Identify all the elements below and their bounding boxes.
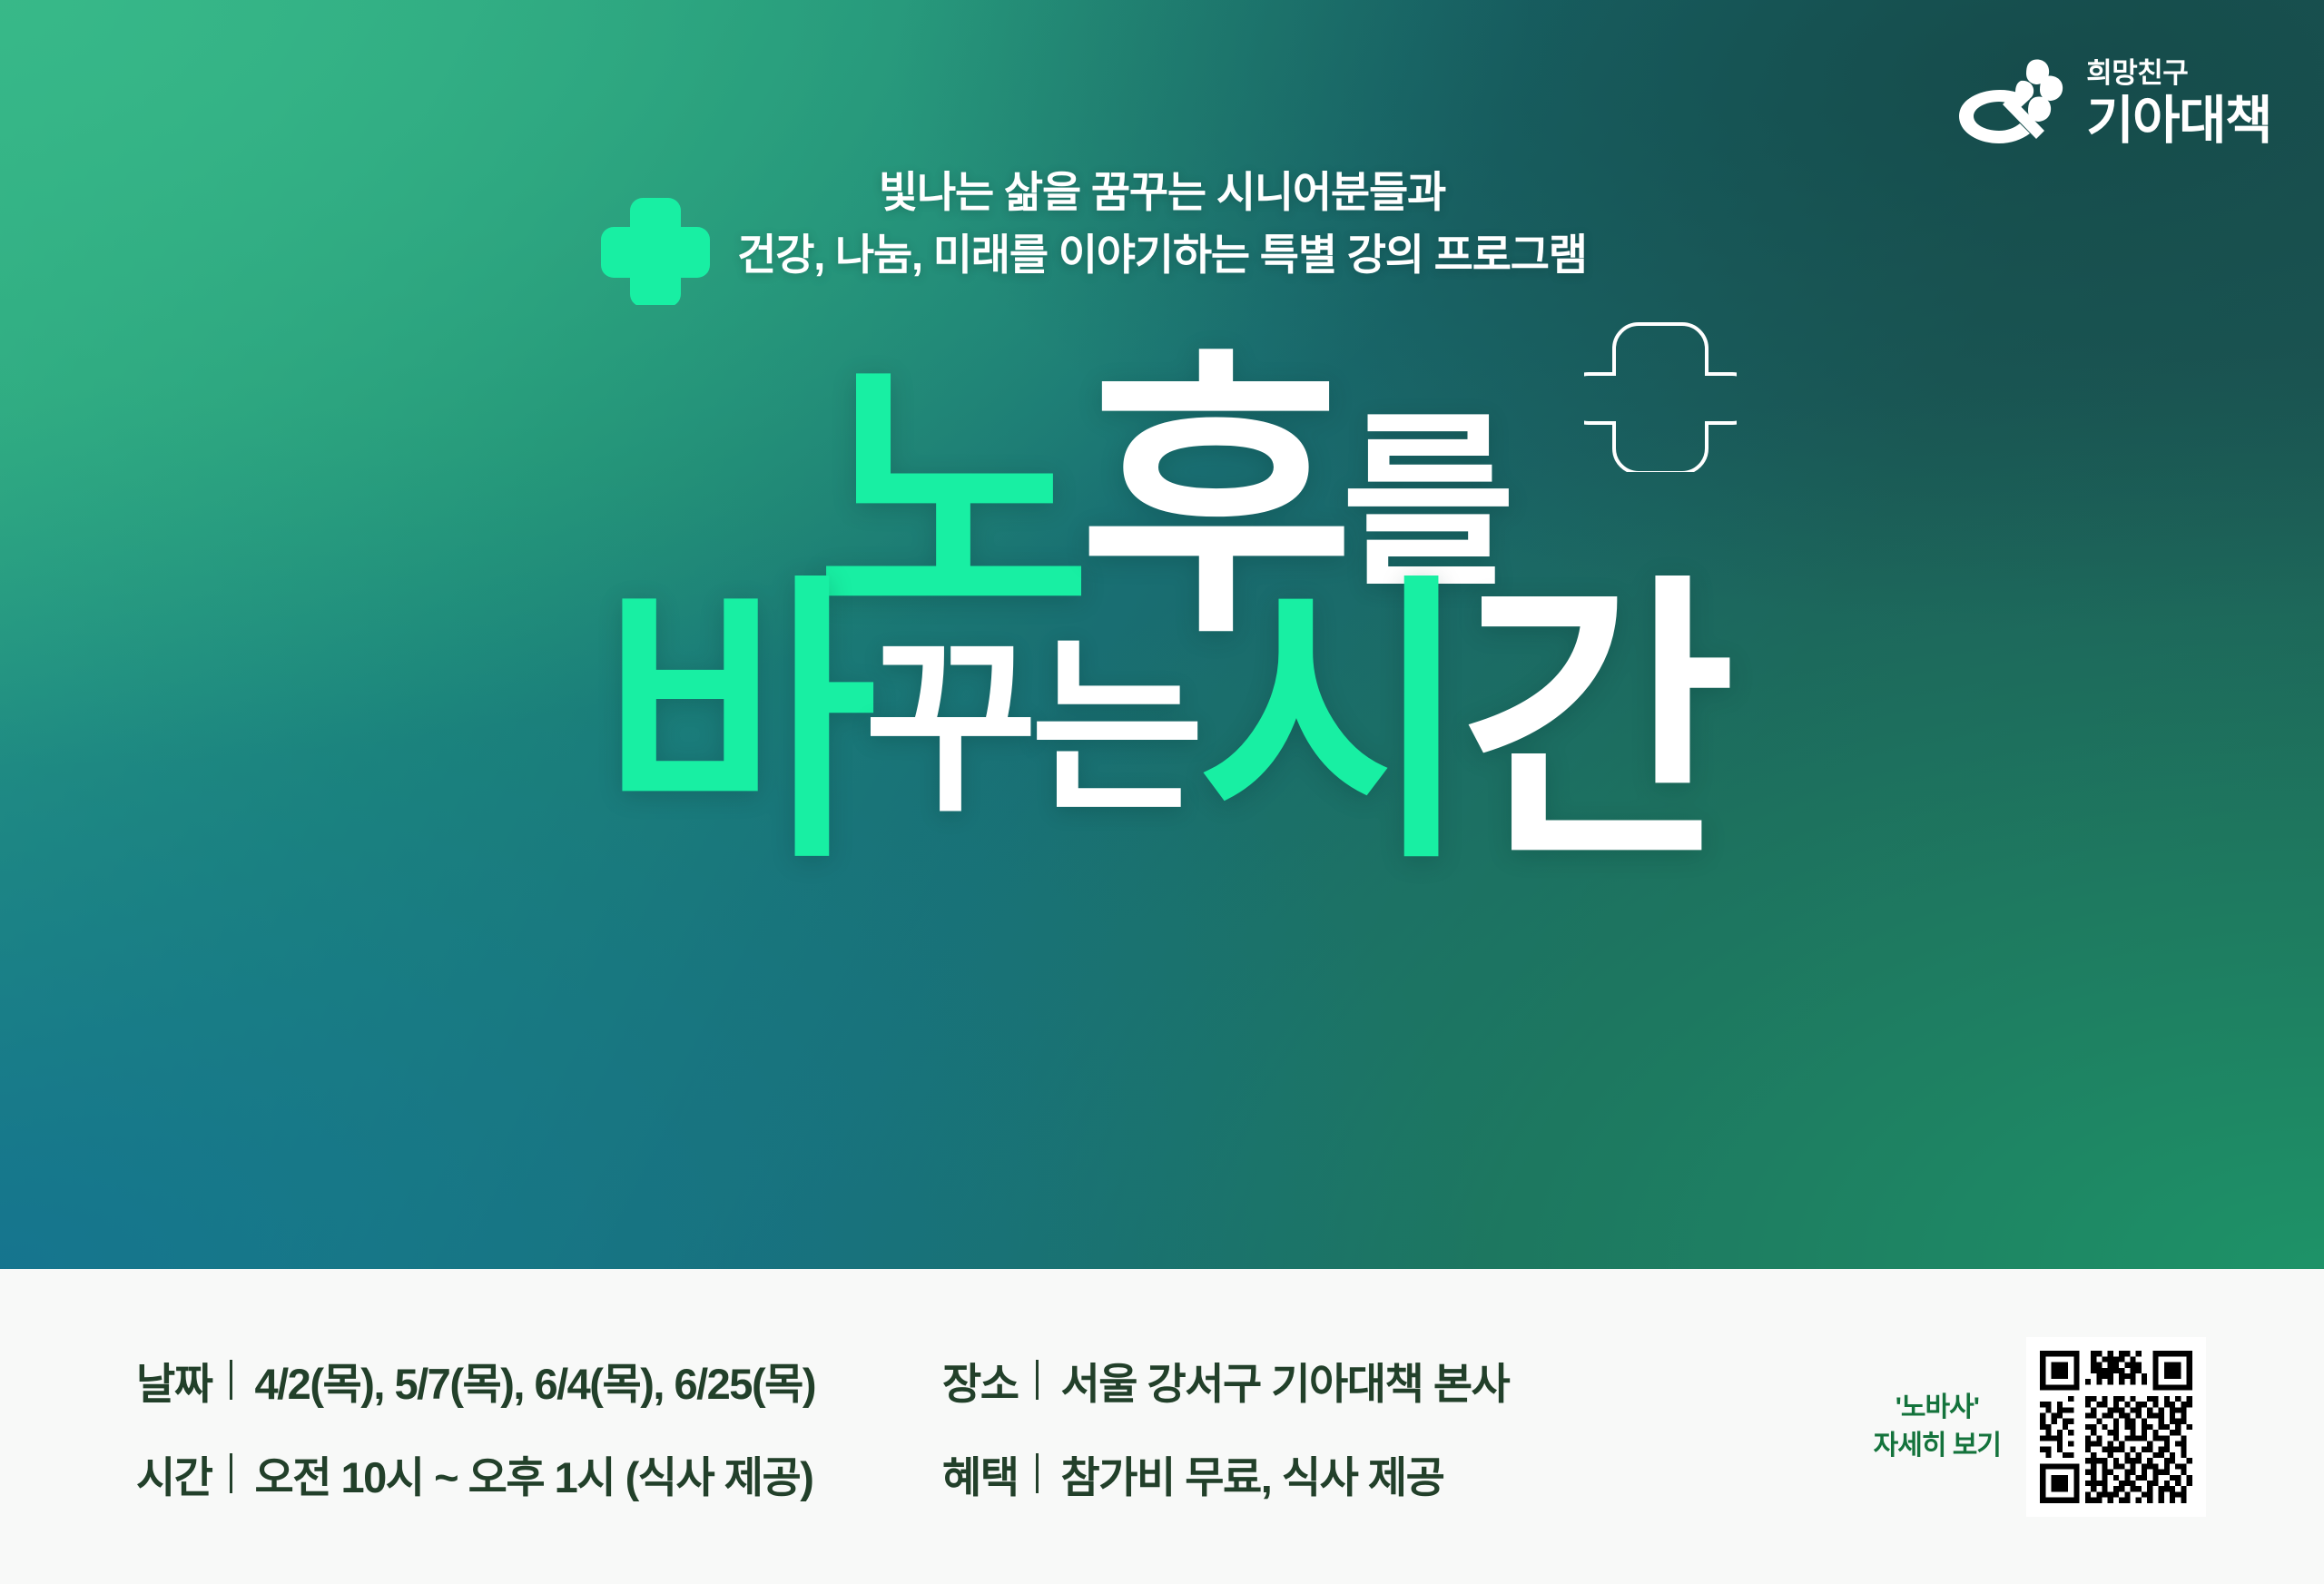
- info-label-time: 시간: [136, 1442, 212, 1505]
- info-divider: [1036, 1453, 1039, 1493]
- info-value-date: 4/2(목), 5/7(목), 6/4(목), 6/25(목): [254, 1349, 815, 1412]
- hero-title: 노 후 를 바 꾸는 시 간: [0, 349, 2324, 1166]
- info-row-location: 장소 서울 강서구 기아대책 본사: [942, 1349, 1509, 1412]
- info-divider: [230, 1360, 232, 1400]
- hero-section: 희망친구 기아대책 빛나는 삶을 꿈꾸는 시니어분들과 건강, 나눔, 미래를 …: [0, 0, 2324, 1269]
- info-value-location: 서울 강서구 기아대책 본사: [1060, 1349, 1509, 1412]
- qr-block[interactable]: '노바사' 자세히 보기: [1874, 1337, 2206, 1517]
- info-column-right: 장소 서울 강서구 기아대책 본사 혜택 참가비 무료, 식사 제공: [942, 1349, 1509, 1505]
- title-char-kkuneun: 꾸는: [864, 635, 1197, 823]
- logo-sub-text: 희망친구: [2086, 59, 2188, 87]
- qr-caption-line-2: 자세히 보기: [1874, 1430, 2001, 1462]
- poster-root: 희망친구 기아대책 빛나는 삶을 꿈꾸는 시니어분들과 건강, 나눔, 미래를 …: [0, 0, 2324, 1584]
- logo-main-text: 기아대책: [2086, 95, 2271, 147]
- fish-wheat-logo-icon: [1955, 56, 2068, 149]
- info-row-date: 날짜 4/2(목), 5/7(목), 6/4(목), 6/25(목): [136, 1349, 815, 1412]
- subtitle-line-1: 빛나는 삶을 꿈꾸는 시니어분들과: [0, 162, 2324, 224]
- organization-logo: 희망친구 기아대책: [1955, 56, 2271, 149]
- info-divider: [230, 1453, 232, 1493]
- info-row-benefit: 혜택 참가비 무료, 식사 제공: [942, 1442, 1509, 1505]
- title-char-si: 시: [1197, 575, 1461, 874]
- info-label-benefit: 혜택: [942, 1442, 1018, 1505]
- info-value-benefit: 참가비 무료, 식사 제공: [1060, 1442, 1443, 1505]
- info-row-time: 시간 오전 10시 ~ 오후 1시 (식사 제공): [136, 1442, 815, 1505]
- info-columns: 날짜 4/2(목), 5/7(목), 6/4(목), 6/25(목) 시간 오전…: [0, 1349, 1874, 1505]
- subtitle-block: 빛나는 삶을 꿈꾸는 시니어분들과 건강, 나눔, 미래를 이야기하는 특별 강…: [0, 162, 2324, 286]
- title-char-gan: 간: [1460, 575, 1723, 874]
- qr-caption: '노바사' 자세히 보기: [1874, 1392, 2001, 1462]
- info-value-time: 오전 10시 ~ 오후 1시 (식사 제공): [254, 1442, 812, 1505]
- qr-code-icon[interactable]: [2026, 1337, 2206, 1517]
- info-column-left: 날짜 4/2(목), 5/7(목), 6/4(목), 6/25(목) 시간 오전…: [136, 1349, 815, 1505]
- info-label-date: 날짜: [136, 1349, 212, 1412]
- qr-caption-line-1: '노바사': [1896, 1392, 1979, 1424]
- subtitle-line-2: 건강, 나눔, 미래를 이야기하는 특별 강의 프로그램: [0, 224, 2324, 287]
- plus-outline-icon: [1584, 320, 1737, 472]
- info-label-location: 장소: [942, 1349, 1018, 1412]
- info-bar: 날짜 4/2(목), 5/7(목), 6/4(목), 6/25(목) 시간 오전…: [0, 1269, 2324, 1584]
- title-row-2: 바 꾸는 시 간: [0, 575, 2324, 874]
- title-char-ba: 바: [601, 575, 864, 874]
- info-divider: [1036, 1360, 1039, 1400]
- logo-wordmark: 희망친구 기아대책: [2086, 59, 2271, 147]
